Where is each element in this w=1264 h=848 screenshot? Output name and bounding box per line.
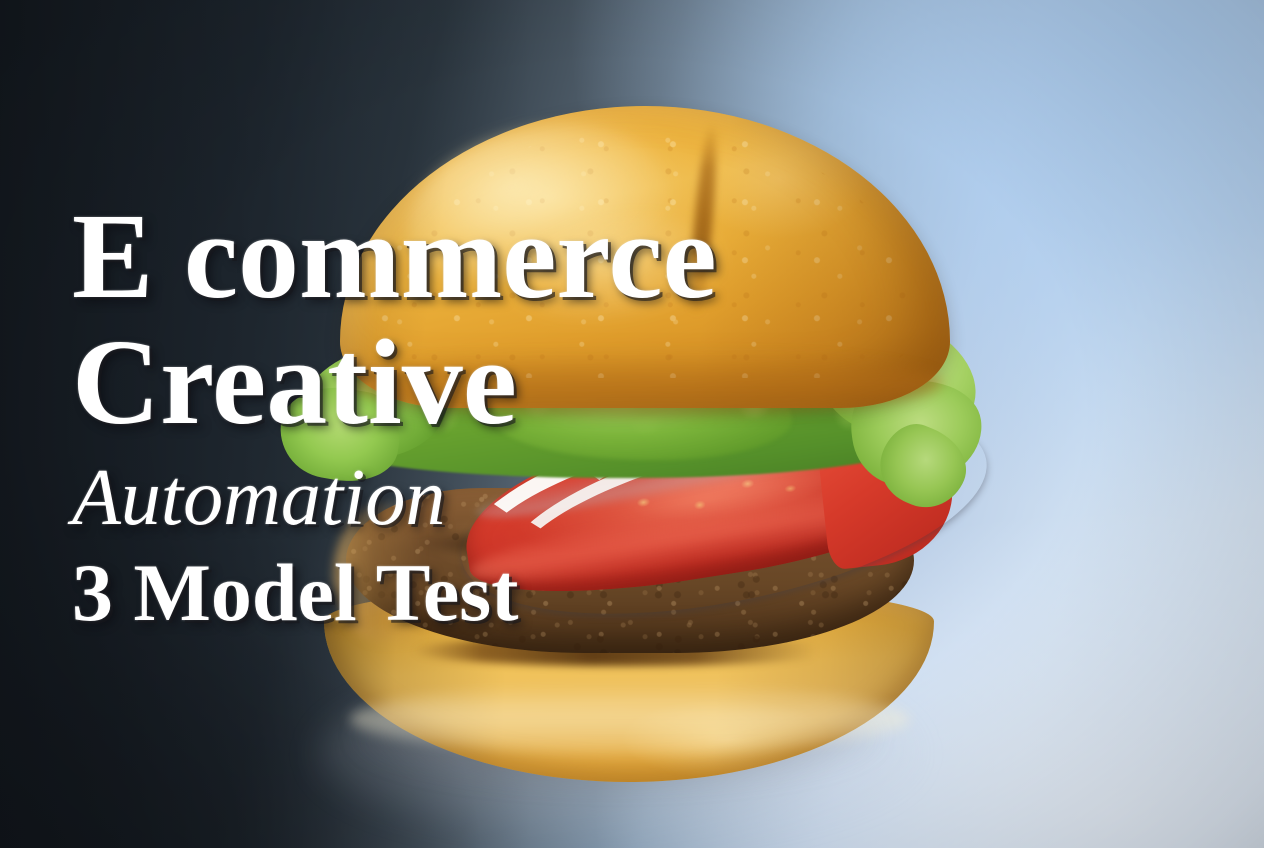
vignette-overlay (0, 0, 1264, 848)
banner-canvas: E commerce Creative Automation 3 Model T… (0, 0, 1264, 848)
